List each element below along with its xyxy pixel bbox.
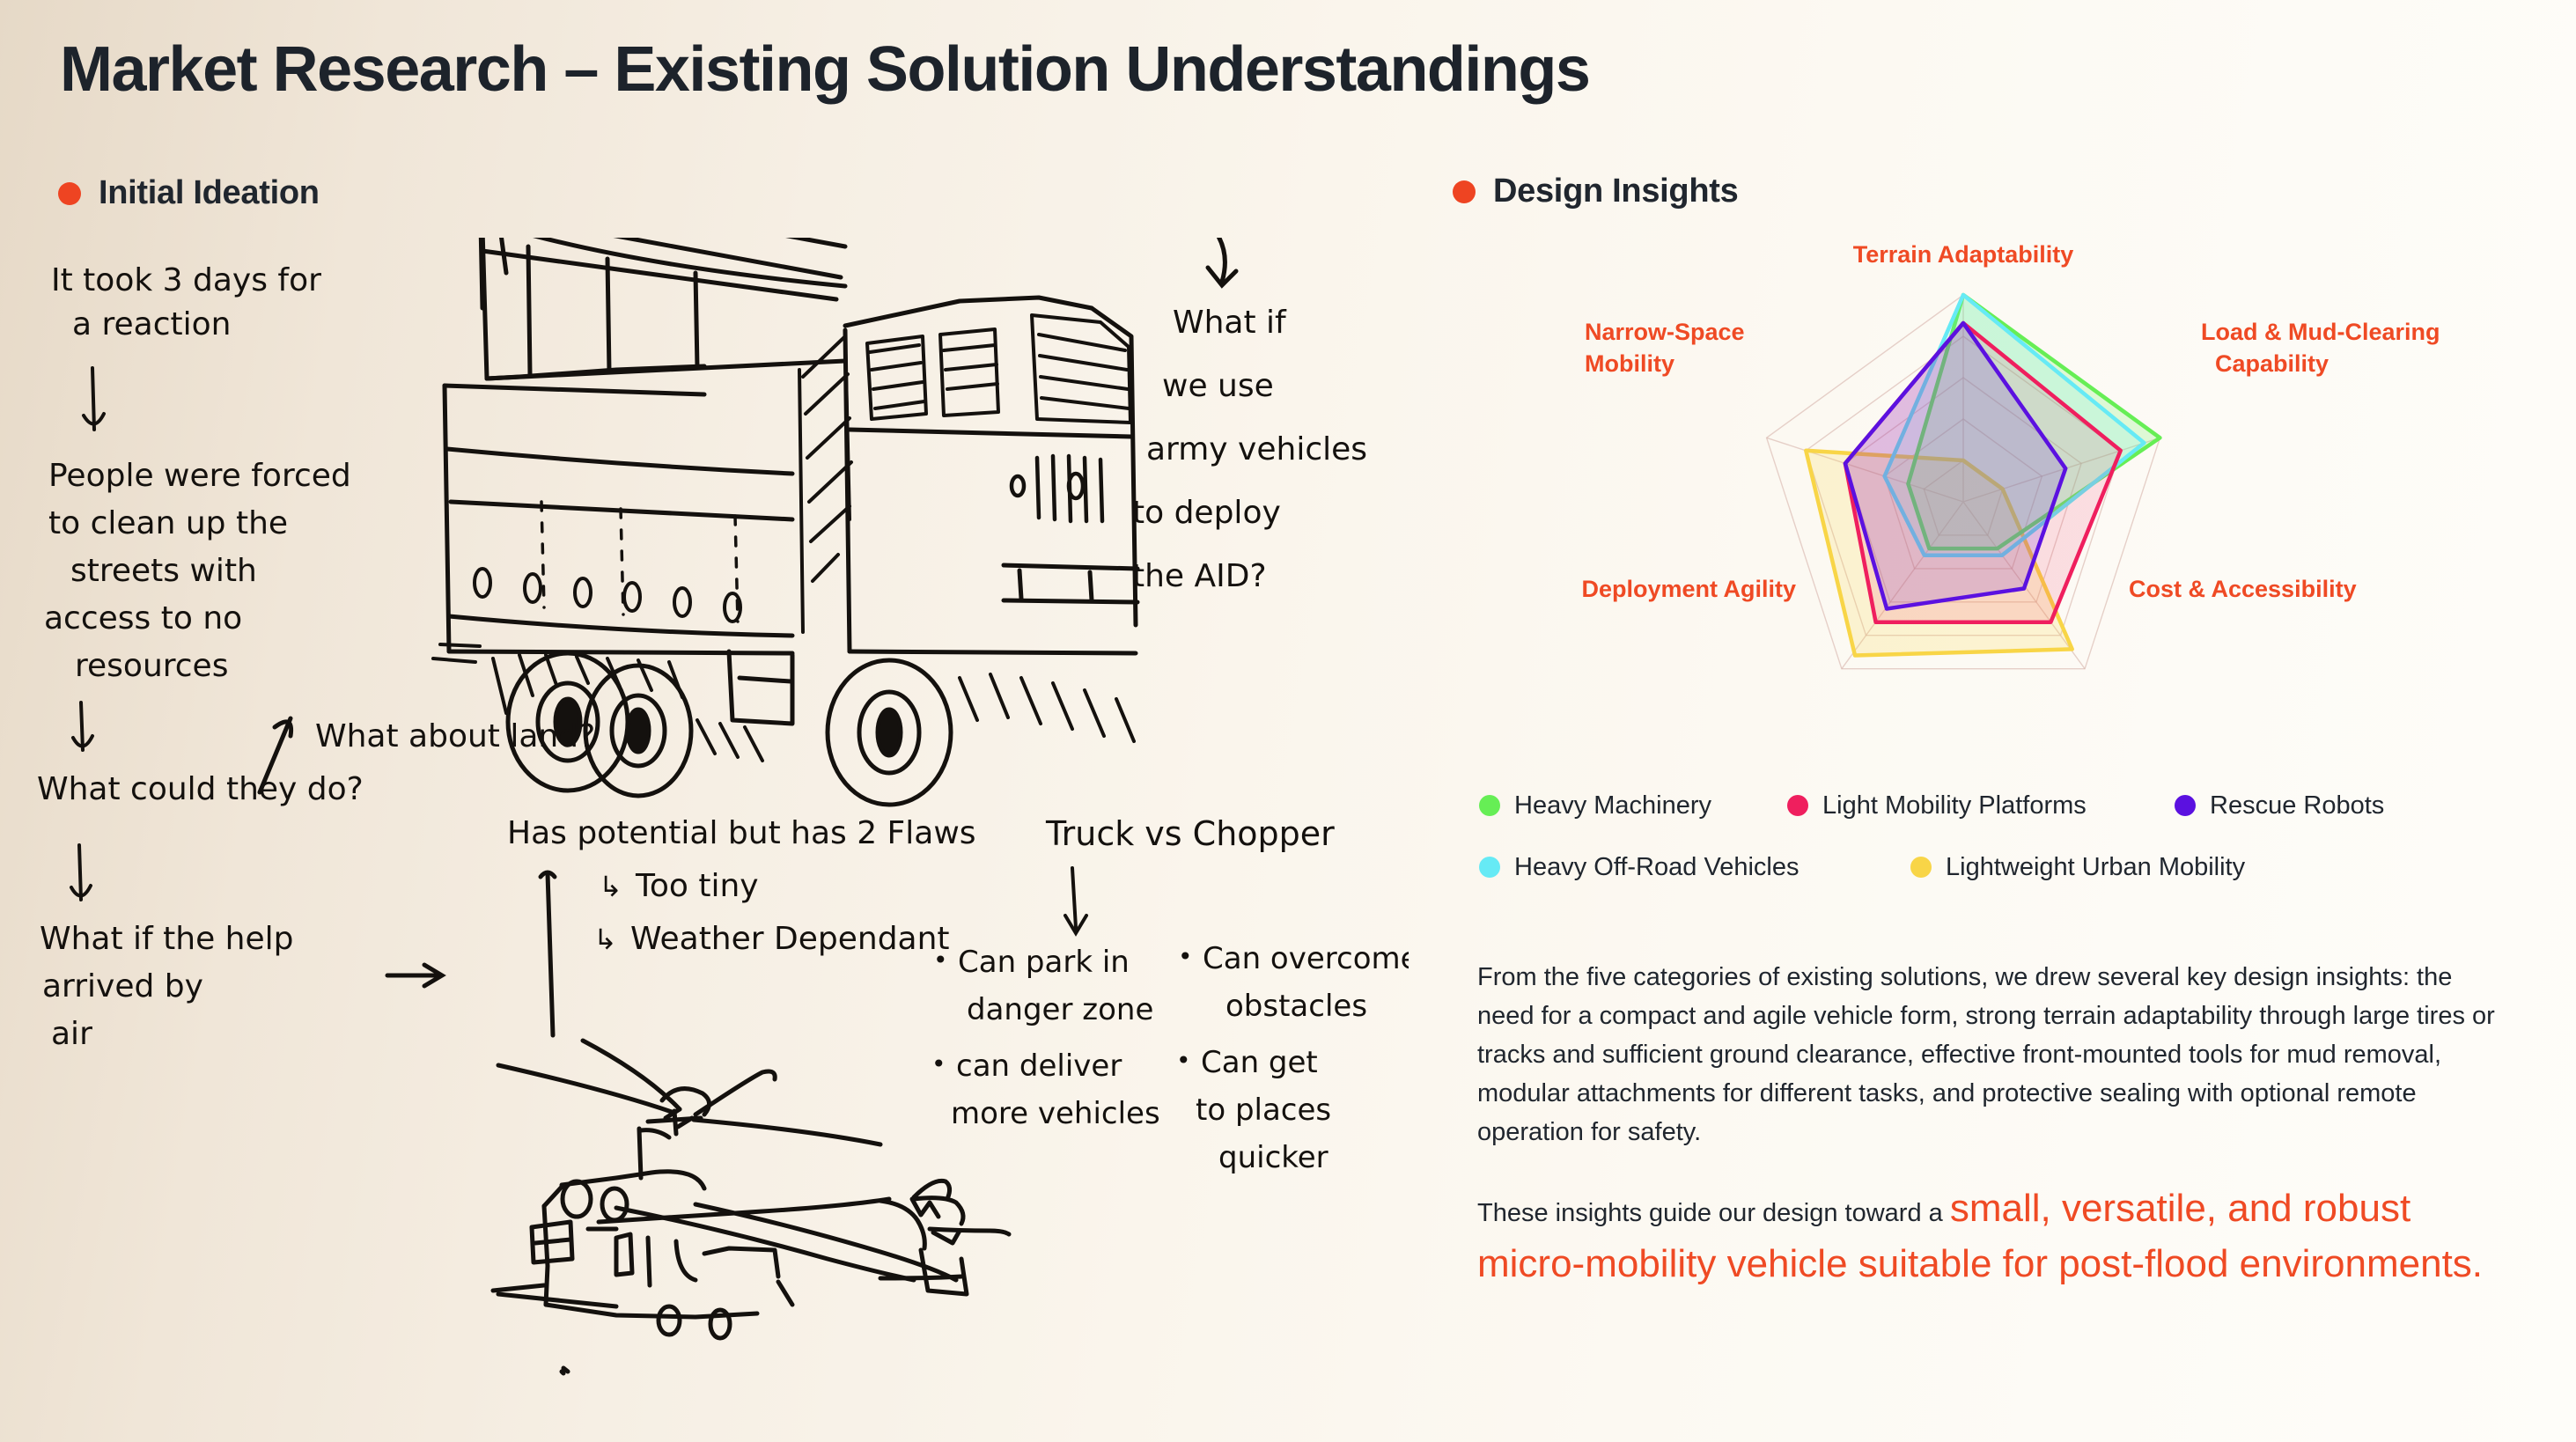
note-line: more vehicles: [951, 1096, 1160, 1131]
note-line: access to no: [44, 600, 242, 636]
note-line: What if: [1173, 305, 1287, 341]
section-header-initial-ideation: Initial Ideation: [58, 174, 320, 212]
note-line: we use: [1162, 368, 1274, 404]
note-line: streets with: [70, 553, 257, 589]
note-line: danger zone: [967, 992, 1153, 1027]
sub-arrow-icon: ↳: [593, 923, 617, 956]
note-army-vehicles: What if we use army vehicles to deploy t…: [1132, 305, 1367, 594]
note-line: air: [51, 1016, 92, 1052]
note-has-potential: Has potential but has 2 Flaws ↳ Too tiny…: [507, 815, 976, 957]
insights-copy: From the five categories of existing sol…: [1477, 958, 2497, 1291]
legend-item-lightweight-urban-mobility[interactable]: Lightweight Urban Mobility: [1910, 853, 2245, 882]
note-line: the AID?: [1132, 558, 1267, 594]
note-line: quicker: [1218, 1140, 1328, 1175]
legend-label: Heavy Off-Road Vehicles: [1514, 853, 1799, 882]
bullet-glyph: •: [1176, 1046, 1191, 1075]
legend-row-2: Heavy Off-Road Vehicles Lightweight Urba…: [1479, 836, 2527, 898]
note-people-forced: People were forced to clean up the stree…: [44, 458, 351, 684]
radar-axis-label-deployment-agility: Deployment Agility: [1581, 576, 1796, 602]
radar-legend: Heavy Machinery Light Mobility Platforms…: [1479, 775, 2527, 898]
section-header-label: Initial Ideation: [99, 174, 320, 212]
note-line: What if the help: [40, 921, 294, 957]
arrow-down-icon-3: [71, 845, 91, 900]
note-line: arrived by: [42, 968, 203, 1004]
bracket-icon: [541, 872, 555, 1035]
legend-swatch-icon: [2175, 795, 2196, 816]
legend-label: Lightweight Urban Mobility: [1946, 853, 2245, 882]
helicopter-sketch: [493, 1041, 1009, 1373]
radar-axis-label-cost-accessibility: Cost & Accessibility: [2129, 576, 2357, 602]
legend-item-light-mobility-platforms[interactable]: Light Mobility Platforms: [1787, 791, 2175, 820]
arrow-right-icon: [387, 965, 442, 986]
note-line: army vehicles: [1146, 431, 1367, 467]
note-line: to places: [1196, 1093, 1331, 1128]
radar-axis-label-narrow-space: Narrow-Space: [1585, 319, 1745, 345]
note-truck-vs-chopper: Truck vs Chopper: [1045, 814, 1335, 853]
legend-swatch-icon: [1910, 857, 1932, 878]
insights-paragraph-2-lead: These insights guide our design toward a: [1477, 1199, 1950, 1227]
note-line: People were forced: [48, 458, 351, 494]
note-line: obstacles: [1225, 989, 1367, 1024]
legend-label: Heavy Machinery: [1514, 791, 1711, 820]
radar-axis-label-narrow-space-line2: Mobility: [1585, 350, 1674, 377]
note-line: It took 3 days for: [51, 262, 321, 298]
note-line: What could they do?: [37, 771, 364, 807]
insights-paragraph-2: These insights guide our design toward a…: [1477, 1181, 2497, 1291]
legend-item-heavy-off-road-vehicles[interactable]: Heavy Off-Road Vehicles: [1479, 853, 1910, 882]
bullet-dot-icon: [1453, 180, 1476, 203]
arrow-down-icon-1: [84, 368, 104, 430]
note-line: Weather Dependant: [630, 921, 950, 957]
note-line: Can overcome: [1203, 941, 1409, 976]
page-title: Market Research – Existing Solution Unde…: [60, 33, 1589, 106]
legend-swatch-icon: [1787, 795, 1808, 816]
insights-paragraph-1: From the five categories of existing sol…: [1477, 958, 2497, 1151]
legend-item-rescue-robots[interactable]: Rescue Robots: [2175, 791, 2384, 820]
legend-row-1: Heavy Machinery Light Mobility Platforms…: [1479, 775, 2527, 836]
note-line: Has potential but has 2 Flaws: [507, 815, 976, 851]
arrow-down-icon-2: [73, 703, 92, 750]
note-help-by-air: What if the help arrived by air: [40, 921, 294, 1052]
note-line: a reaction: [72, 306, 231, 342]
radar-axis-label-terrain-adaptability: Terrain Adaptability: [1853, 241, 2074, 268]
legend-swatch-icon: [1479, 795, 1500, 816]
note-line: can deliver: [956, 1048, 1122, 1084]
bullet-dot-icon: [58, 182, 81, 205]
bullet-glyph: •: [933, 945, 948, 975]
radar-chart: Terrain Adaptability Load & Mud-Clearing…: [1444, 238, 2544, 748]
note-line: Can get: [1201, 1045, 1318, 1080]
section-header-label: Design Insights: [1493, 173, 1738, 210]
note-line: Truck vs Chopper: [1045, 814, 1335, 853]
note-reaction-delay: It took 3 days for a reaction: [51, 262, 321, 342]
arrow-down-icon-4: [1065, 868, 1086, 933]
pros-list-left: • Can park in danger zone • can deliver …: [931, 945, 1160, 1131]
bullet-glyph: •: [931, 1049, 946, 1078]
note-line: What about land?: [315, 718, 595, 754]
radar-axis-label-load-mud-clearing-line2: Capability: [2215, 350, 2329, 377]
legend-label: Rescue Robots: [2210, 791, 2384, 820]
pros-list-right: • Can overcome obstacles • Can get to pl…: [1176, 941, 1409, 1175]
note-line: Can park in: [958, 945, 1130, 980]
note-line: Too tiny: [635, 868, 759, 904]
note-line: resources: [75, 648, 228, 684]
note-what-could-they-do: What could they do?: [37, 771, 364, 807]
sub-arrow-icon: ↳: [599, 870, 622, 903]
legend-swatch-icon: [1479, 857, 1500, 878]
section-header-design-insights: Design Insights: [1453, 173, 1738, 210]
legend-label: Light Mobility Platforms: [1822, 791, 2087, 820]
radar-axis-label-load-mud-clearing: Load & Mud-Clearing: [2201, 319, 2440, 345]
bullet-glyph: •: [1178, 942, 1193, 971]
design-insights-panel: Terrain Adaptability Load & Mud-Clearing…: [1444, 238, 2544, 1417]
squiggle-arrow-icon: [1206, 238, 1236, 285]
note-line: to clean up the: [48, 505, 288, 541]
legend-item-heavy-machinery[interactable]: Heavy Machinery: [1479, 791, 1787, 820]
ideation-sketch-board: It took 3 days for a reaction People wer…: [0, 238, 1409, 1417]
note-line: to deploy: [1132, 495, 1281, 531]
